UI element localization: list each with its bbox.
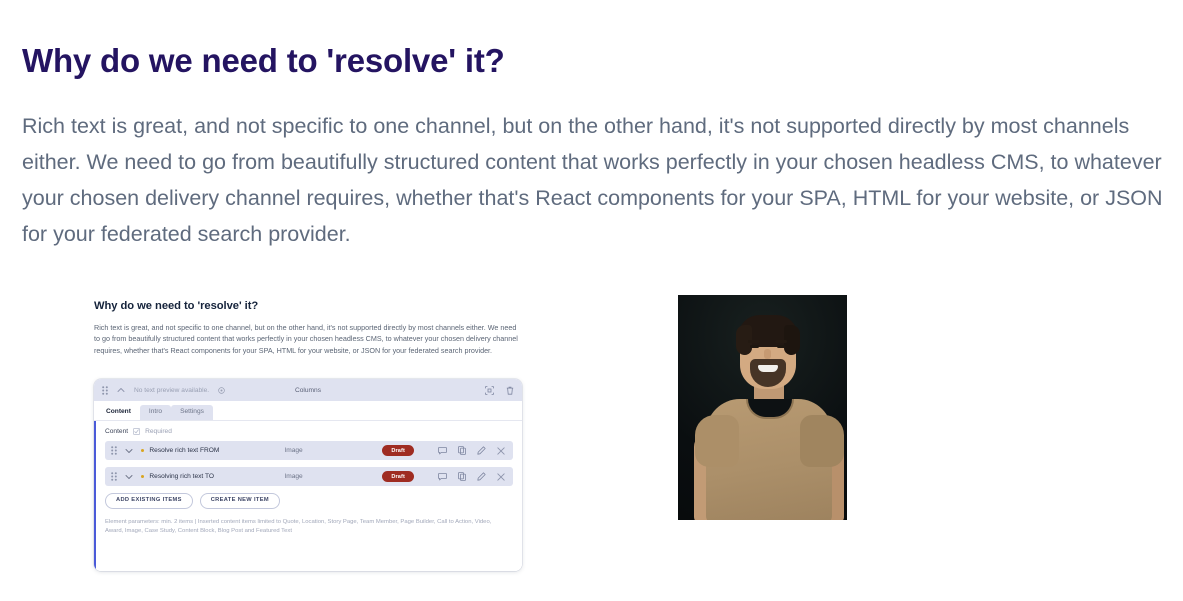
edit-pencil-icon[interactable] — [477, 472, 486, 481]
photo-nose — [764, 349, 771, 359]
drag-handle-icon[interactable] — [111, 472, 117, 481]
tab-content[interactable]: Content — [97, 405, 140, 420]
status-badge: Draft — [382, 471, 414, 482]
no-preview-label: No text preview available. — [134, 387, 209, 394]
photo-smile — [758, 365, 778, 372]
photo-eyebrow-right — [775, 340, 787, 343]
drag-handle-icon[interactable] — [102, 386, 108, 395]
edit-pencil-icon[interactable] — [477, 446, 486, 455]
comment-icon[interactable] — [438, 473, 447, 481]
trash-icon[interactable] — [506, 386, 514, 395]
article-page: Why do we need to 'resolve' it? Rich tex… — [0, 0, 1183, 601]
article-body-text: Rich text is great, and not specific to … — [22, 108, 1167, 252]
create-new-item-button[interactable]: CREATE NEW ITEM — [200, 493, 280, 509]
info-circle-icon[interactable] — [218, 387, 225, 394]
table-row[interactable]: Resolve rich text FROM Image Draft — [105, 441, 513, 460]
status-dot — [141, 475, 144, 478]
photo-eyebrow-left — [748, 340, 760, 343]
cms-content-element-panel: No text preview available. Columns — [94, 379, 522, 571]
photo-sleeve-left — [695, 415, 739, 467]
expand-brackets-icon[interactable] — [485, 386, 494, 395]
comment-icon[interactable] — [438, 447, 447, 455]
panel-body: Content Required Resolve rich text F — [94, 421, 522, 571]
photo-eye-right — [777, 345, 786, 348]
status-dot — [141, 449, 144, 452]
drag-handle-icon[interactable] — [111, 446, 117, 455]
field-required-label: Required — [145, 428, 172, 435]
chevron-down-icon[interactable] — [125, 474, 133, 480]
element-parameters-note: Element parameters: min. 2 items | Inser… — [105, 518, 503, 536]
item-name: Resolve rich text FROM — [149, 447, 284, 454]
panel-left-accent-bar — [94, 421, 96, 571]
item-type: Image — [284, 447, 382, 454]
chevron-up-icon[interactable] — [117, 387, 125, 393]
page-title: Why do we need to 'resolve' it? — [22, 40, 1162, 82]
tab-settings[interactable]: Settings — [171, 405, 213, 420]
status-badge: Draft — [382, 445, 414, 456]
photo-eye-left — [750, 345, 759, 348]
embedded-cms-screenshot: Why do we need to 'resolve' it? Rich tex… — [88, 292, 532, 579]
photo-sleeve-right — [800, 415, 844, 467]
item-name: Resolving rich text TO — [149, 473, 284, 480]
panel-tab-bar: Content Intro Settings — [94, 401, 522, 421]
duplicate-icon[interactable] — [458, 472, 466, 481]
chevron-down-icon[interactable] — [125, 448, 133, 454]
panel-toolbar: No text preview available. Columns — [94, 379, 522, 401]
table-row[interactable]: Resolving rich text TO Image Draft — [105, 467, 513, 486]
field-label: Content — [105, 428, 128, 435]
add-existing-items-button[interactable]: ADD EXISTING ITEMS — [105, 493, 193, 509]
field-header: Content Required — [105, 428, 513, 435]
portrait-photo — [678, 295, 847, 520]
close-x-icon[interactable] — [497, 473, 505, 481]
panel-action-buttons: ADD EXISTING ITEMS CREATE NEW ITEM — [105, 493, 513, 509]
close-x-icon[interactable] — [497, 447, 505, 455]
embedded-heading: Why do we need to 'resolve' it? — [94, 300, 258, 312]
embedded-body-text: Rich text is great, and not specific to … — [94, 322, 518, 356]
item-type: Image — [284, 473, 382, 480]
checkbox-checked-icon — [133, 428, 140, 435]
tab-intro[interactable]: Intro — [140, 405, 171, 420]
duplicate-icon[interactable] — [458, 446, 466, 455]
